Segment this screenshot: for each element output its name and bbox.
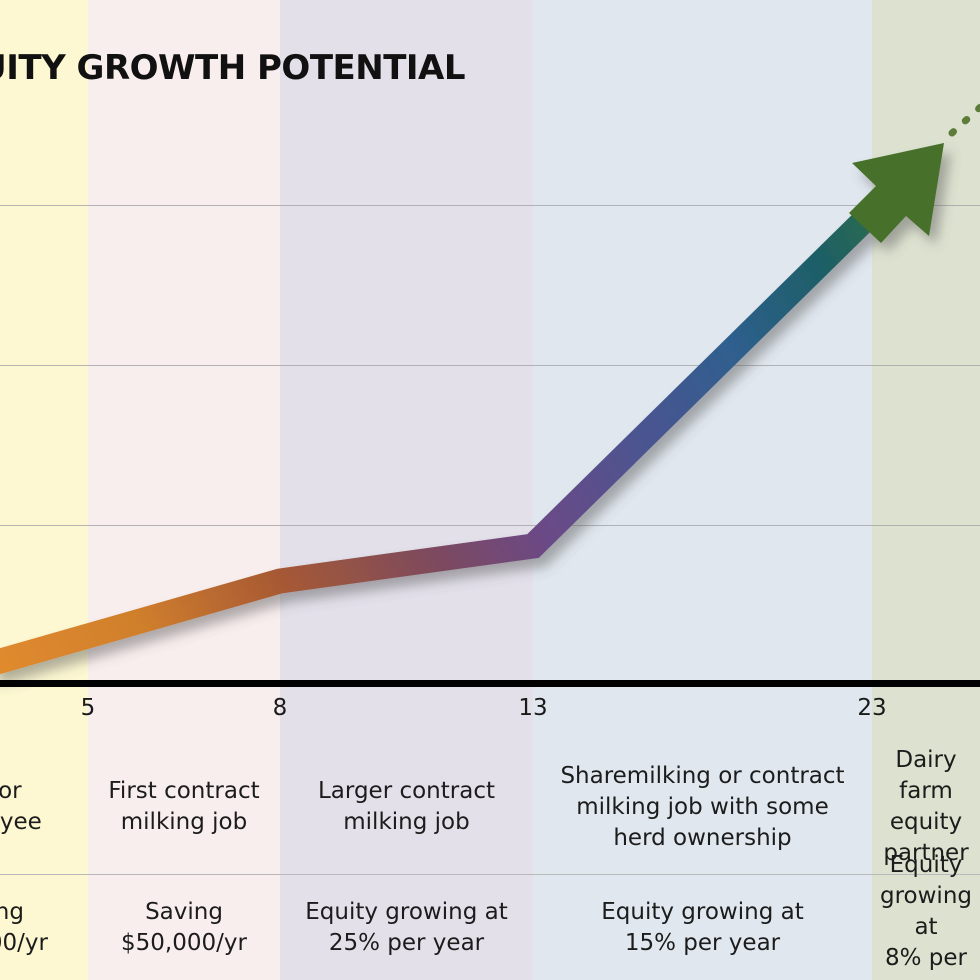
stage-finance-cell-2: Saving $50,000/yr xyxy=(88,874,280,980)
x-tick-23: 23 xyxy=(857,695,886,721)
stage-column-3: Larger contract milking job Equity growi… xyxy=(280,740,533,980)
stage-finance-label-1: Saving $30,000/yr xyxy=(0,897,82,959)
plot-area: EQUITY GROWTH POTENTIAL xyxy=(0,0,980,687)
equity-growth-arrow xyxy=(0,0,980,700)
stage-description-table: Senior employee Saving $30,000/yr First … xyxy=(0,740,980,980)
stage-role-label-4: Sharemilking or contract milking job wit… xyxy=(539,761,866,854)
x-tick-13: 13 xyxy=(518,695,547,721)
stage-finance-label-3: Equity growing at 25% per year xyxy=(286,897,527,959)
equity-growth-chart: EQUITY GROWTH POTENTIAL 5 8 13 23 Senior… xyxy=(0,0,980,980)
stage-role-label-3: Larger contract milking job xyxy=(286,776,527,838)
x-axis-ticks: 5 8 13 23 xyxy=(0,687,980,737)
stage-finance-cell-4: Equity growing at 15% per year xyxy=(533,874,872,980)
stage-column-1: Senior employee Saving $30,000/yr xyxy=(0,740,88,980)
stage-finance-cell-5: Equity growing at 8% per year xyxy=(872,874,980,980)
stage-column-4: Sharemilking or contract milking job wit… xyxy=(533,740,872,980)
stage-role-cell-3: Larger contract milking job xyxy=(280,740,533,874)
page-title: EQUITY GROWTH POTENTIAL xyxy=(0,48,465,88)
stage-role-cell-4: Sharemilking or contract milking job wit… xyxy=(533,740,872,874)
stage-column-5: Dairy farm equity partner Equity growing… xyxy=(872,740,980,980)
x-tick-8: 8 xyxy=(273,695,288,721)
x-tick-5: 5 xyxy=(81,695,96,721)
stage-finance-cell-1: Saving $30,000/yr xyxy=(0,874,88,980)
stage-finance-label-2: Saving $50,000/yr xyxy=(94,897,274,959)
stage-column-2: First contract milking job Saving $50,00… xyxy=(88,740,280,980)
stage-role-label-2: First contract milking job xyxy=(94,776,274,838)
stage-finance-label-4: Equity growing at 15% per year xyxy=(539,897,866,959)
stage-finance-label-5: Equity growing at 8% per year xyxy=(878,850,974,980)
stage-role-cell-2: First contract milking job xyxy=(88,740,280,874)
x-axis-line xyxy=(0,680,980,687)
stage-role-label-1: Senior employee xyxy=(0,776,82,838)
stage-finance-cell-3: Equity growing at 25% per year xyxy=(280,874,533,980)
stage-role-cell-1: Senior employee xyxy=(0,740,88,874)
